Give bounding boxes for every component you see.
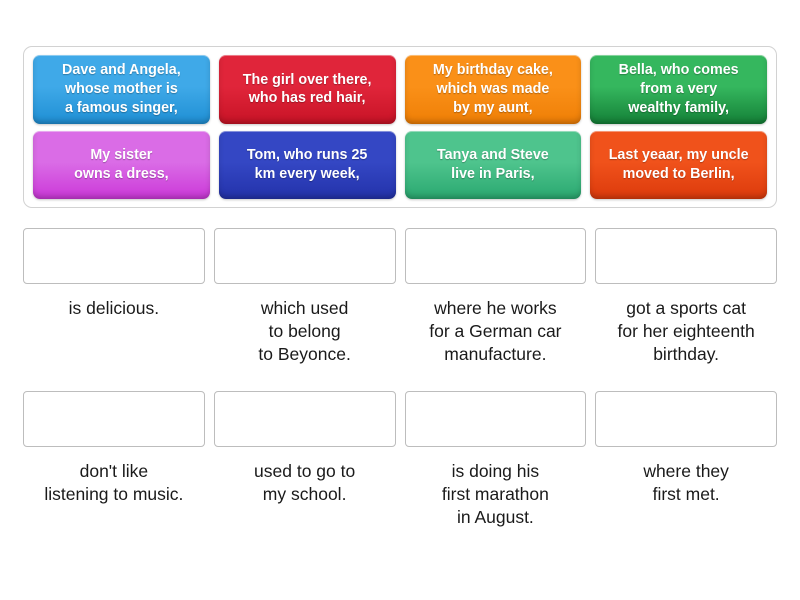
answer-cell: is doing his first marathon in August. [405, 391, 587, 528]
answer-label: which used to belong to Beyonce. [214, 297, 396, 365]
drop-zone[interactable] [214, 391, 396, 447]
draggable-tile[interactable]: Dave and Angela, whose mother is a famou… [33, 55, 210, 124]
tile-grid: Dave and Angela, whose mother is a famou… [33, 55, 767, 199]
answer-cell: which used to belong to Beyonce. [214, 228, 396, 365]
drop-zone[interactable] [595, 228, 777, 284]
answer-cell: where they first met. [595, 391, 777, 528]
tile-text: Dave and Angela, whose mother is a famou… [62, 61, 181, 117]
answer-grid: is delicious. which used to belong to Be… [23, 228, 777, 529]
answer-cell: where he works for a German car manufact… [405, 228, 587, 365]
drop-zone[interactable] [405, 391, 587, 447]
answer-cell: don't like listening to music. [23, 391, 205, 528]
answer-label: got a sports cat for her eighteenth birt… [595, 297, 777, 365]
draggable-tile[interactable]: Last yeaar, my uncle moved to Berlin, [590, 131, 767, 200]
tile-text: The girl over there, who has red hair, [243, 71, 372, 108]
draggable-tile[interactable]: My birthday cake, which was made by my a… [405, 55, 582, 124]
draggable-tile[interactable]: The girl over there, who has red hair, [219, 55, 396, 124]
draggable-tile[interactable]: My sister owns a dress, [33, 131, 210, 200]
answer-label: where they first met. [595, 460, 777, 506]
tile-tray: Dave and Angela, whose mother is a famou… [23, 46, 777, 208]
tile-text: Last yeaar, my uncle moved to Berlin, [609, 146, 749, 183]
answer-area: is delicious. which used to belong to Be… [23, 228, 777, 576]
drop-zone[interactable] [595, 391, 777, 447]
drop-zone[interactable] [405, 228, 587, 284]
tile-text: My sister owns a dress, [74, 146, 169, 183]
tile-text: Tom, who runs 25 km every week, [247, 146, 367, 183]
draggable-tile[interactable]: Tanya and Steve live in Paris, [405, 131, 582, 200]
answer-label: is delicious. [23, 297, 205, 320]
tile-text: Bella, who comes from a very wealthy fam… [619, 61, 739, 117]
answer-cell: is delicious. [23, 228, 205, 365]
tile-text: Tanya and Steve live in Paris, [437, 146, 549, 183]
answer-label: where he works for a German car manufact… [405, 297, 587, 365]
answer-label: don't like listening to music. [23, 460, 205, 506]
answer-label: is doing his first marathon in August. [405, 460, 587, 528]
answer-cell: used to go to my school. [214, 391, 396, 528]
drop-zone[interactable] [214, 228, 396, 284]
drop-zone[interactable] [23, 228, 205, 284]
answer-label: used to go to my school. [214, 460, 396, 506]
drop-zone[interactable] [23, 391, 205, 447]
tile-text: My birthday cake, which was made by my a… [433, 61, 553, 117]
draggable-tile[interactable]: Bella, who comes from a very wealthy fam… [590, 55, 767, 124]
answer-cell: got a sports cat for her eighteenth birt… [595, 228, 777, 365]
draggable-tile[interactable]: Tom, who runs 25 km every week, [219, 131, 396, 200]
